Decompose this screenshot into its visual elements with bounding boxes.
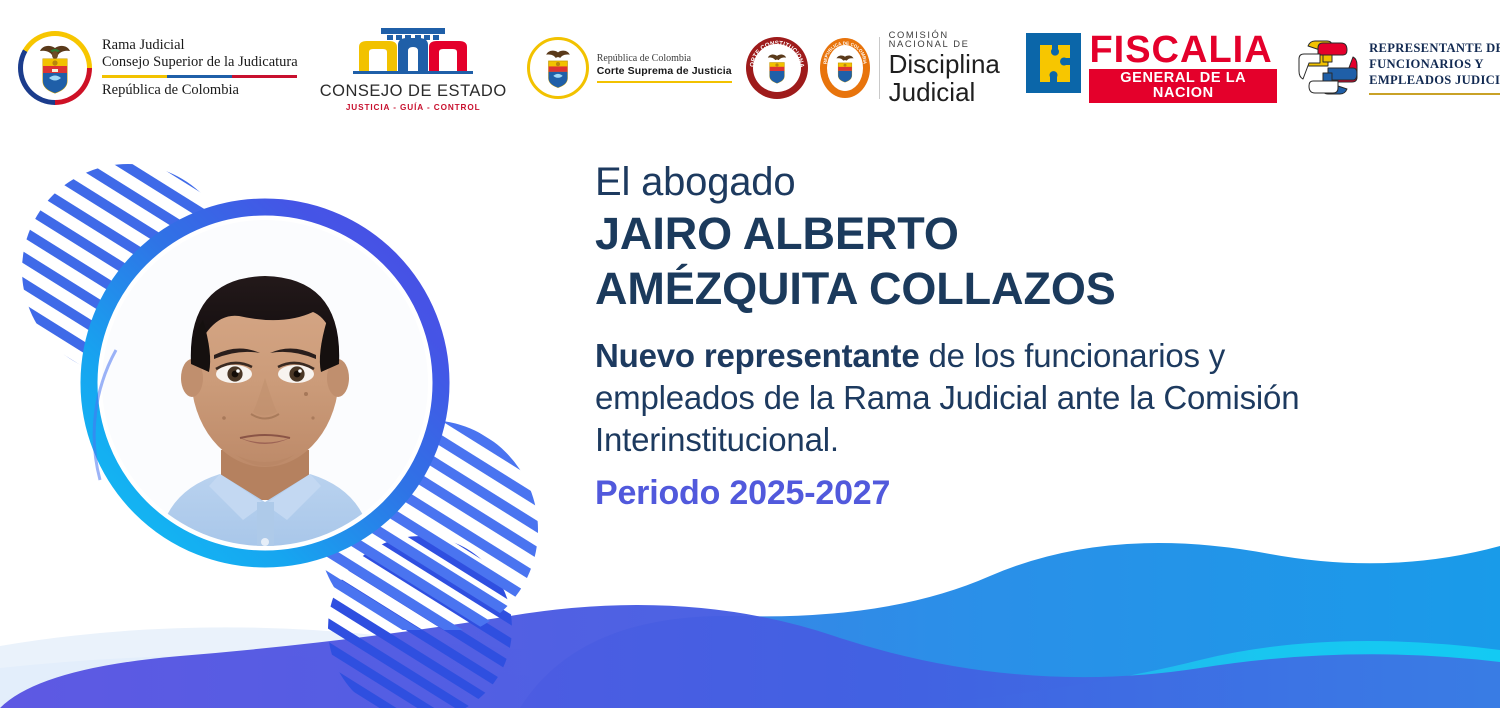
period-text: Periodo 2025-2027	[595, 474, 1335, 513]
logo-rama-judicial: Rama Judicial Consejo Superior de la Jud…	[18, 31, 298, 105]
corte-suprema-line2: Corte Suprema de Justicia	[597, 65, 732, 78]
institution-logo-bar: Rama Judicial Consejo Superior de la Jud…	[0, 0, 1500, 136]
logo-consejo-de-estado: CONSEJO DE ESTADO JUSTICIA - GUÍA - CONT…	[320, 25, 507, 112]
comision-disciplina-seal-icon: REPUBLICA DE COLOMBIA COMISION NACIONAL …	[820, 38, 870, 98]
corte-suprema-line1: República de Colombia	[597, 53, 732, 66]
representante-line1: REPRESENTANTE DE	[1369, 41, 1500, 57]
representante-line3: EMPLEADOS JUDICIALES	[1369, 73, 1500, 89]
kicker-text: El abogado	[595, 160, 1335, 205]
disciplina-line1: Disciplina	[889, 51, 1010, 79]
representante-line2: FUNCIONARIOS Y	[1369, 57, 1500, 73]
person-name-line2: AMÉZQUITA COLLAZOS	[595, 262, 1335, 315]
colombia-coat-of-arms-icon	[18, 31, 92, 105]
rama-judicial-line2: Consejo Superior de la Judicatura	[102, 54, 298, 71]
four-hands-icon	[1295, 35, 1361, 101]
gold-rule	[1369, 93, 1500, 95]
role-description: Nuevo representante de los funcionarios …	[595, 335, 1335, 462]
logo-corte-suprema: República de Colombia Corte Suprema de J…	[527, 37, 732, 99]
consejo-de-estado-building-icon	[343, 25, 483, 81]
puzzle-piece-icon	[1026, 33, 1082, 93]
fiscalia-name: FISCALIA	[1089, 33, 1277, 68]
corte-constitucional-seal-icon: CORTE CONSTITUCIONAL REPUBLICA DE COLOMB…	[746, 37, 808, 99]
logo-disciplina-judicial: REPUBLICA DE COLOMBIA COMISION NACIONAL …	[820, 30, 1010, 107]
logo-divider	[879, 37, 880, 99]
person-name-line1: JAIRO ALBERTO	[595, 207, 1335, 260]
portrait-block	[8, 150, 568, 630]
rama-judicial-sub: República de Colombia	[102, 82, 298, 99]
portrait-graphic	[8, 150, 568, 630]
consejo-de-estado-name: CONSEJO DE ESTADO	[320, 82, 507, 101]
fiscalia-sub: GENERAL DE LA NACION	[1089, 69, 1277, 103]
disciplina-kicker: COMISIÓN NACIONAL DE	[889, 30, 1010, 49]
tricolor-rule	[102, 75, 297, 78]
rama-judicial-line1: Rama Judicial	[102, 37, 298, 54]
consejo-de-estado-sub: JUSTICIA - GUÍA - CONTROL	[346, 103, 481, 112]
logo-representante: REPRESENTANTE DE FUNCIONARIOS Y EMPLEADO…	[1295, 35, 1500, 101]
role-description-bold: Nuevo representante	[595, 337, 919, 374]
logo-corte-constitucional: CORTE CONSTITUCIONAL REPUBLICA DE COLOMB…	[746, 37, 808, 99]
announcement-banner: Rama Judicial Consejo Superior de la Jud…	[0, 0, 1500, 708]
colombia-coat-of-arms-icon	[527, 37, 589, 99]
logo-fiscalia: FISCALIA GENERAL DE LA NACION	[1026, 33, 1277, 104]
disciplina-line2: Judicial	[889, 79, 1010, 107]
gold-rule	[597, 81, 732, 83]
announcement-copy: El abogado JAIRO ALBERTO AMÉZQUITA COLLA…	[595, 160, 1335, 513]
